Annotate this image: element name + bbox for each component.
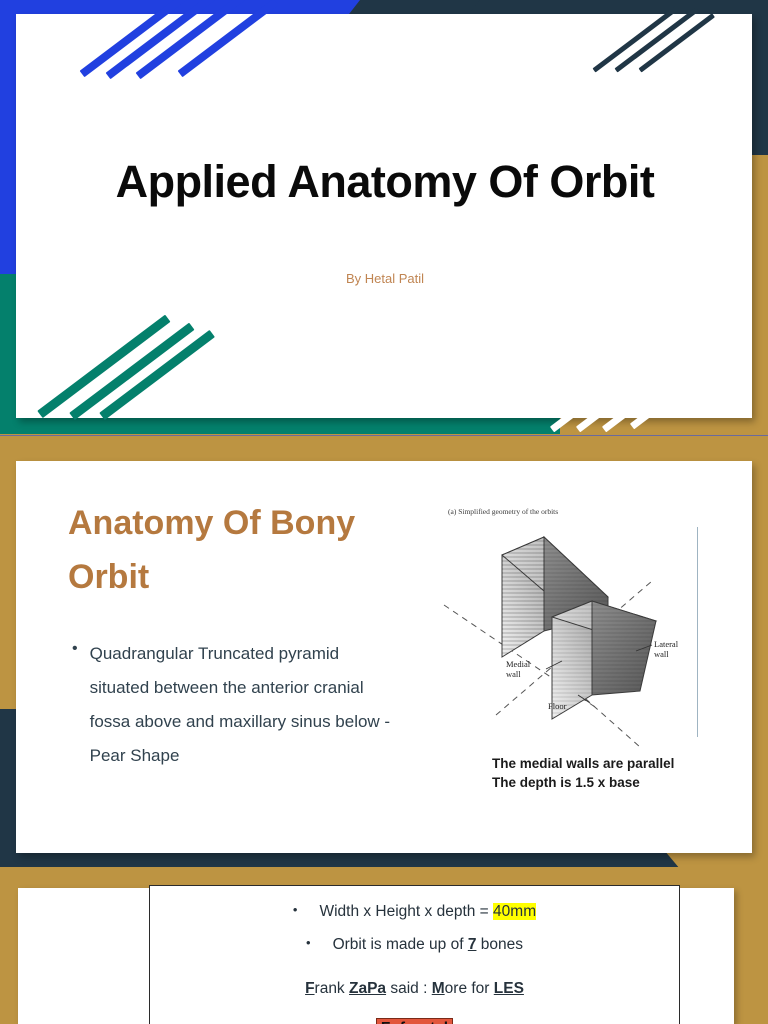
mnemonic-les: LES	[494, 980, 524, 997]
slide3-line2-prefix: Orbit is made up of	[333, 936, 468, 953]
slide2-heading: Anatomy Of Bony Orbit	[68, 497, 398, 604]
label-medial-wall: Medial	[506, 659, 531, 669]
slide3-mnemonic-line: Frank ZaPa said : More for LES	[150, 980, 679, 998]
bullet-marker-icon: •	[293, 902, 298, 917]
orbit-wedges-diagram-icon: Lateral wall Medial wall Floor	[440, 519, 700, 759]
mnemonic-f: F	[305, 980, 314, 997]
slide2-bullet-item: • Quadrangular Truncated pyramid situate…	[72, 637, 402, 773]
presentation-title: Applied Anatomy Of Orbit	[60, 152, 710, 212]
slide3-line1-prefix: Width x Height x depth =	[319, 903, 493, 920]
slide-deck: Applied Anatomy Of Orbit By Hetal Patil …	[0, 0, 768, 1024]
slide3-text-box: •Width x Height x depth = 40mm •Orbit is…	[149, 885, 680, 1024]
figure-bottom-line-1: The medial walls are parallel	[492, 755, 674, 774]
label-lateral-wall: Lateral	[654, 639, 679, 649]
svg-text:wall: wall	[654, 649, 669, 659]
slide3-line2-suffix: bones	[476, 936, 523, 953]
label-floor: Floor	[548, 701, 567, 711]
slide-gap-band-2	[0, 867, 768, 883]
figure-bottom-caption: The medial walls are parallel The depth …	[492, 755, 674, 793]
slide3-bullet-line-1: •Width x Height x depth = 40mm	[150, 902, 679, 921]
mnemonic-m: M	[432, 980, 445, 997]
slide3-line1-highlight: 40mm	[493, 903, 536, 920]
bullet-marker-icon: •	[72, 637, 78, 773]
mnemonic-rank: rank	[315, 980, 349, 997]
slide1-white-card	[16, 14, 752, 418]
orbit-geometry-figure: (a) Simplified geometry of the orbits	[430, 497, 710, 817]
figure-bottom-line-2: The depth is 1.5 x base	[492, 774, 674, 793]
slide3-frontal-line: F- frontal	[150, 1020, 679, 1024]
slide2-bullet-text: Quadrangular Truncated pyramid situated …	[90, 637, 402, 773]
slide-1-title[interactable]: Applied Anatomy Of Orbit By Hetal Patil	[0, 0, 768, 434]
slide3-bullet-line-2: •Orbit is made up of 7 bones	[150, 935, 679, 954]
mnemonic-ore-for: ore for	[445, 980, 494, 997]
slide-2-anatomy[interactable]: Anatomy Of Bony Orbit • Quadrangular Tru…	[0, 447, 768, 867]
slide3-frontal-highlight: F- frontal	[376, 1018, 453, 1024]
figure-top-caption: (a) Simplified geometry of the orbits	[448, 507, 558, 516]
bullet-marker-icon: •	[306, 935, 311, 950]
slide-gap-rule-1	[0, 435, 768, 436]
svg-text:wall: wall	[506, 669, 521, 679]
presentation-author: By Hetal Patil	[60, 271, 710, 286]
mnemonic-pa: Pa	[367, 980, 386, 997]
mnemonic-said: said :	[386, 980, 432, 997]
mnemonic-za: Za	[349, 980, 367, 997]
